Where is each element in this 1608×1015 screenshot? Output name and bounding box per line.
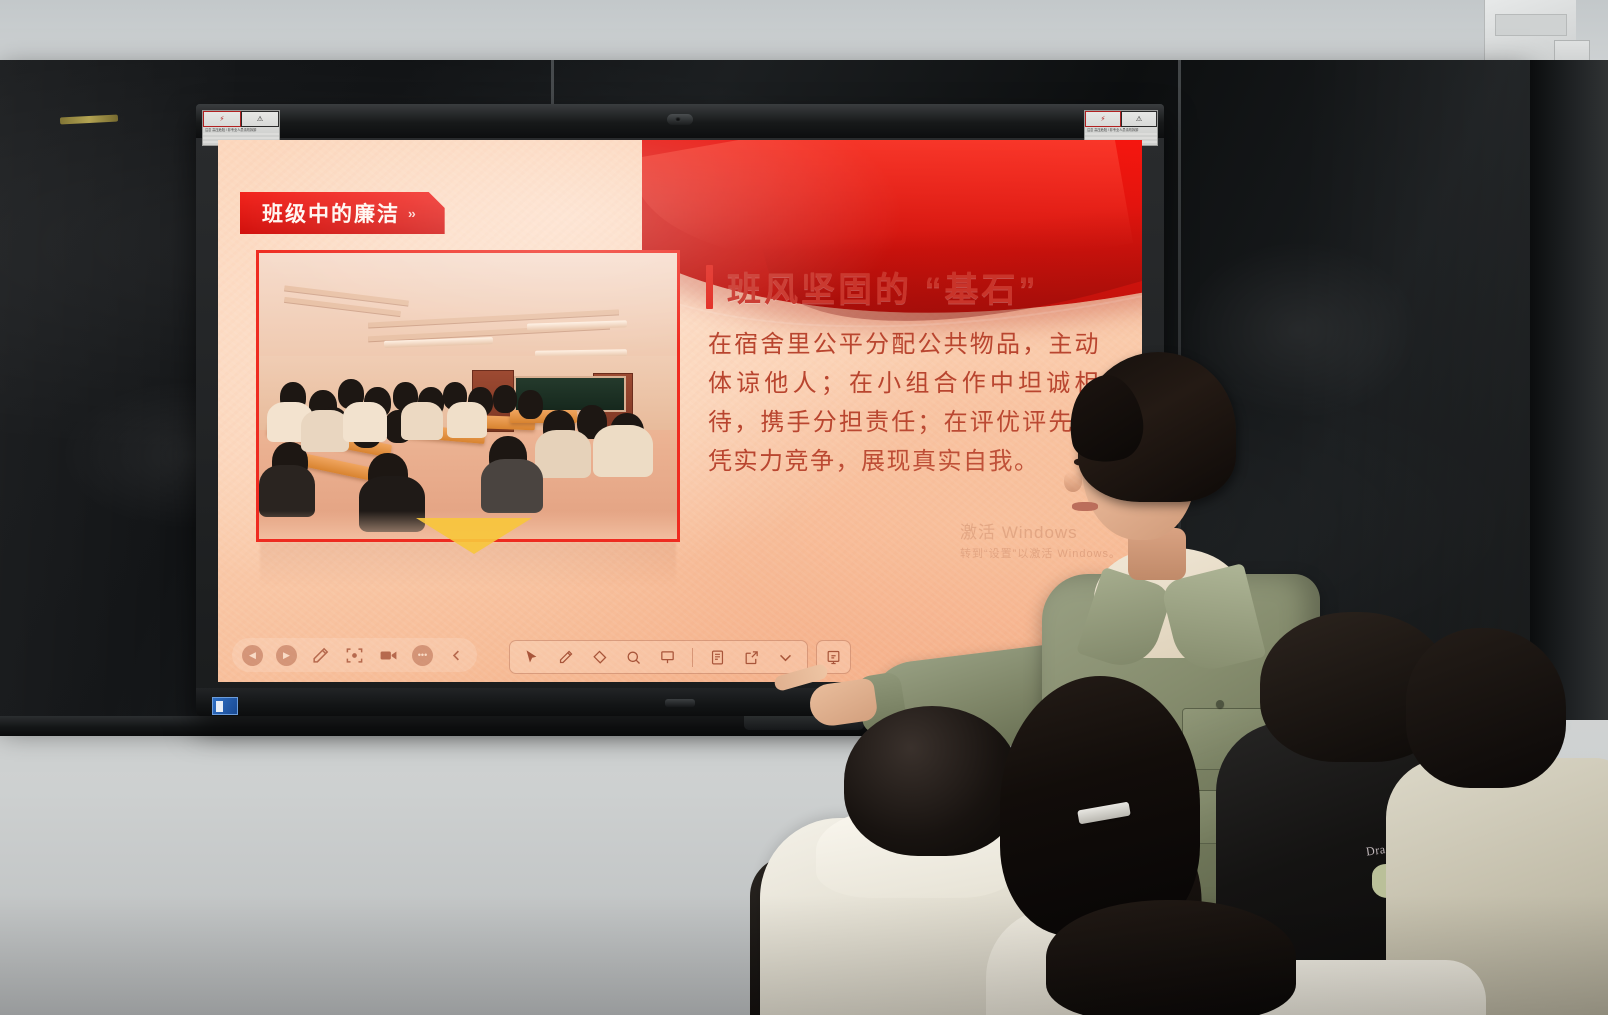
more-options-button[interactable]: ••• xyxy=(412,645,433,666)
chevron-left-icon xyxy=(449,648,464,663)
share-export-button[interactable] xyxy=(742,648,761,667)
interactive-smartboard[interactable]: ⚡ ⚠ 注意 高压危险 / 非专业人员请勿拆卸 ⚡ ⚠ 注意 高压危险 / 非专… xyxy=(196,104,1164,716)
caution-triangle-icon: ⚠ xyxy=(241,111,279,127)
caution-triangle-icon: ⚠ xyxy=(1121,111,1157,127)
screenshot-root: ⚡ ⚠ 注意 高压危险 / 非专业人员请勿拆卸 ⚡ ⚠ 注意 高压危险 / 非专… xyxy=(0,0,1608,1015)
bezel-camera-icon xyxy=(667,114,693,125)
annotation-toolbar-main-group[interactable] xyxy=(509,640,808,674)
play-slide-button[interactable]: ▶ xyxy=(276,645,297,666)
screenshot-region-button[interactable] xyxy=(344,645,365,666)
magnifier-icon xyxy=(625,649,642,666)
eraser-tool-button[interactable] xyxy=(590,648,609,667)
high-voltage-icon: ⚡ xyxy=(203,111,241,127)
toolbar-divider xyxy=(692,648,693,667)
pen-tool-button[interactable] xyxy=(556,648,575,667)
pen-annotate-button[interactable] xyxy=(310,645,331,666)
presentation-view-button[interactable] xyxy=(824,648,843,667)
slide-player-controls[interactable]: ◀ ▶ xyxy=(232,638,477,672)
pen-icon xyxy=(557,649,574,666)
magnifier-tool-button[interactable] xyxy=(624,648,643,667)
present-screen-icon xyxy=(825,649,842,666)
seated-student-front xyxy=(1046,900,1466,1015)
notes-icon xyxy=(709,649,726,666)
screen-record-button[interactable] xyxy=(378,645,399,666)
presentation-slide: 班级中的廉洁 ›› xyxy=(218,140,1142,682)
eraser-icon xyxy=(591,649,608,666)
play-circle-icon: ▶ xyxy=(276,645,297,666)
previous-slide-button[interactable]: ◀ xyxy=(242,645,263,666)
cursor-arrow-icon xyxy=(523,649,540,666)
pen-icon xyxy=(311,646,330,665)
select-tool-button[interactable] xyxy=(522,648,541,667)
windows-taskbar-icon[interactable] xyxy=(212,697,238,715)
more-tools-button[interactable] xyxy=(776,648,795,667)
screenshot-frame-icon xyxy=(345,646,364,665)
ellipsis-circle-icon: ••• xyxy=(412,645,433,666)
smartboard-screen[interactable]: 班级中的廉洁 ›› xyxy=(218,140,1142,682)
prev-circle-icon: ◀ xyxy=(242,645,263,666)
collapse-toolbar-button[interactable] xyxy=(446,645,467,666)
video-camera-icon xyxy=(379,646,398,665)
screen-glare xyxy=(218,140,1142,682)
high-voltage-icon: ⚡ xyxy=(1085,111,1121,127)
share-out-icon xyxy=(743,649,760,666)
chevron-down-icon xyxy=(777,649,794,666)
ir-receiver xyxy=(665,699,695,707)
notes-panel-button[interactable] xyxy=(708,648,727,667)
spotlight-tool-button[interactable] xyxy=(658,648,677,667)
spotlight-screen-icon xyxy=(659,649,676,666)
